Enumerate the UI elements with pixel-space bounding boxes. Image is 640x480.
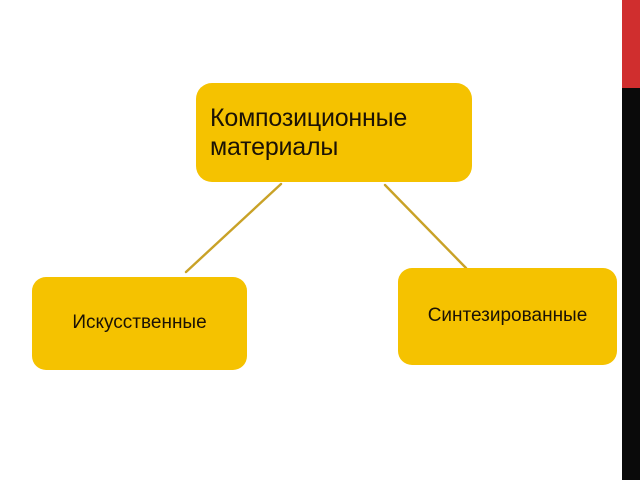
connector-lines [0,0,640,480]
diagram-node-root[interactable]: Композиционные материалы [196,83,472,182]
diagram-node-synthesized-label: Синтезированные [410,305,605,327]
edge-accent-black-bar [622,88,640,480]
slide-canvas: Композиционные материалы Искусственные С… [0,0,640,480]
diagram-node-synthesized[interactable]: Синтезированные [398,268,617,365]
diagram-node-artificial[interactable]: Искусственные [32,277,247,370]
diagram-node-artificial-label: Искусственные [44,312,235,334]
connector-root-to-synthesized [385,185,466,268]
connector-root-to-artificial [186,184,281,272]
edge-accent-red-bar [622,0,640,88]
diagram-node-root-label: Композиционные материалы [210,104,458,162]
